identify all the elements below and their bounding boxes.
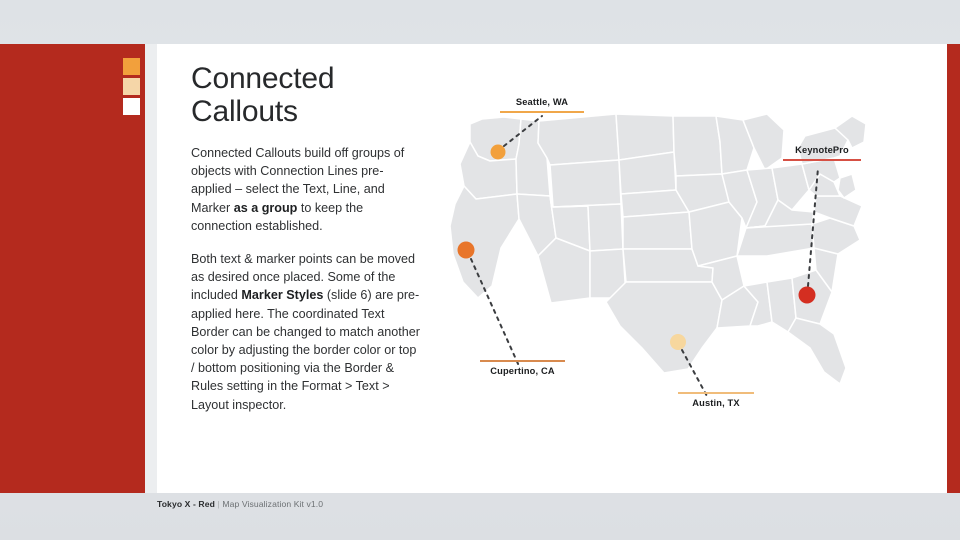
- paragraph-two-part-b: (slide 6) are pre-applied here. The coor…: [191, 288, 420, 411]
- state-wyoming: [550, 160, 621, 207]
- marker-austin[interactable]: [670, 334, 686, 350]
- state-minnesota: [673, 116, 722, 176]
- footer-kit: Map Visualization Kit v1.0: [222, 499, 323, 509]
- state-california: [450, 186, 519, 298]
- state-new-jersey-delaware-maryland: [838, 174, 856, 198]
- callout-cupertino-rule: [480, 360, 565, 362]
- logo-square-white-icon: [123, 98, 140, 115]
- callout-austin-label: Austin, TX: [678, 397, 754, 409]
- callout-cupertino[interactable]: Cupertino, CA: [480, 360, 565, 377]
- state-texas: [606, 282, 722, 373]
- marker-cupertino[interactable]: [458, 242, 475, 259]
- slide-text-column: Connected Callouts Connected Callouts bu…: [191, 62, 423, 429]
- callout-seattle-rule: [500, 111, 584, 113]
- callout-keynotepro-label: KeynotePro: [783, 144, 861, 156]
- callout-seattle-label: Seattle, WA: [500, 96, 584, 108]
- paragraph-two-emphasis: Marker Styles: [241, 288, 323, 302]
- state-florida: [788, 318, 846, 384]
- presentation-slide-view: Connected Callouts Connected Callouts bu…: [0, 0, 960, 540]
- logo-square-tan-icon: [123, 78, 140, 95]
- slide-footer: Tokyo X - Red | Map Visualization Kit v1…: [157, 499, 323, 509]
- callout-keynotepro[interactable]: KeynotePro: [783, 144, 861, 161]
- marker-seattle[interactable]: [491, 145, 506, 160]
- state-tennessee: [737, 224, 814, 256]
- callout-seattle[interactable]: Seattle, WA: [500, 96, 584, 113]
- state-arizona: [538, 238, 590, 303]
- page-title: Connected Callouts: [191, 62, 423, 128]
- footer-brand: Tokyo X - Red: [157, 499, 215, 509]
- panel-gutter: [145, 44, 157, 493]
- paragraph-one: Connected Callouts build off groups of o…: [191, 144, 423, 235]
- logo-marks: [123, 58, 140, 118]
- callout-austin-rule: [678, 392, 754, 394]
- state-alabama: [767, 278, 796, 332]
- marker-keynotepro[interactable]: [799, 287, 816, 304]
- footer-separator: |: [217, 499, 219, 509]
- paragraph-two: Both text & marker points can be moved a…: [191, 250, 423, 414]
- us-map-svg: [420, 86, 880, 431]
- state-kansas: [623, 212, 692, 249]
- right-accent-strip: [947, 44, 960, 493]
- callout-keynotepro-rule: [783, 159, 861, 161]
- paragraph-one-emphasis: as a group: [234, 201, 298, 215]
- logo-square-orange-icon: [123, 58, 140, 75]
- map-visualization: Seattle, WA KeynotePro Cupertino, CA Aus…: [420, 86, 880, 431]
- state-south-dakota: [619, 152, 676, 194]
- page-title-line-1: Connected: [191, 62, 334, 95]
- page-title-line-2: Callouts: [191, 95, 298, 128]
- callout-cupertino-label: Cupertino, CA: [480, 365, 565, 377]
- state-montana: [538, 114, 619, 165]
- callout-austin[interactable]: Austin, TX: [678, 392, 754, 409]
